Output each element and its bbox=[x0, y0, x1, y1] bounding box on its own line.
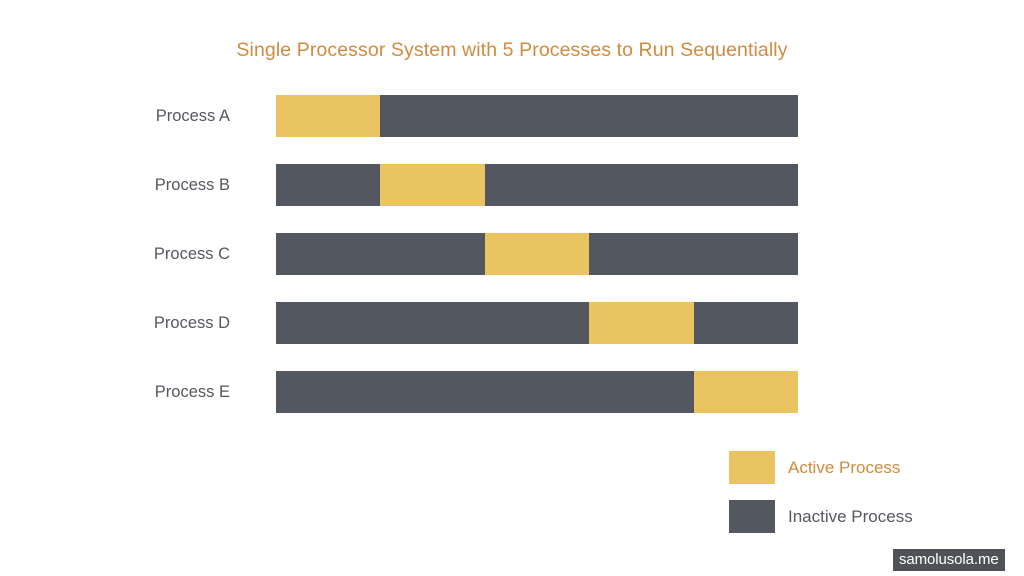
page-title: Single Processor System with 5 Processes… bbox=[0, 39, 1024, 62]
bar-segment-slot-1 bbox=[276, 233, 380, 275]
watermark: samolusola.me bbox=[893, 549, 1005, 571]
process-bar-a bbox=[276, 95, 798, 137]
bar-segment-slot-2 bbox=[380, 371, 484, 413]
bar-segment-slot-5 bbox=[694, 371, 798, 413]
table-row: Process B bbox=[0, 164, 1024, 206]
bar-segment-slot-4 bbox=[589, 371, 693, 413]
process-label-d: Process D bbox=[60, 302, 230, 344]
process-label-b: Process B bbox=[60, 164, 230, 206]
legend-swatch-active-icon bbox=[729, 451, 775, 484]
bar-segment-slot-3 bbox=[485, 302, 589, 344]
bar-segment-slot-5 bbox=[694, 302, 798, 344]
legend-item-active: Active Process bbox=[729, 451, 913, 484]
table-row: Process E bbox=[0, 371, 1024, 413]
legend-swatch-inactive-icon bbox=[729, 500, 775, 533]
bar-segment-slot-2 bbox=[380, 164, 484, 206]
bar-segment-slot-5 bbox=[694, 164, 798, 206]
process-label-c: Process C bbox=[60, 233, 230, 275]
process-bar-e bbox=[276, 371, 798, 413]
legend-label-active: Active Process bbox=[788, 458, 900, 478]
legend-label-inactive: Inactive Process bbox=[788, 507, 913, 527]
bar-segment-slot-1 bbox=[276, 302, 380, 344]
bar-segment-slot-3 bbox=[485, 371, 589, 413]
bar-segment-slot-1 bbox=[276, 164, 380, 206]
bar-segment-slot-4 bbox=[589, 233, 693, 275]
bar-segment-slot-2 bbox=[380, 302, 484, 344]
table-row: Process D bbox=[0, 302, 1024, 344]
table-row: Process A bbox=[0, 95, 1024, 137]
bar-segment-slot-2 bbox=[380, 233, 484, 275]
legend: Active Process Inactive Process bbox=[729, 451, 913, 549]
bar-segment-slot-5 bbox=[694, 233, 798, 275]
bar-segment-slot-1 bbox=[276, 371, 380, 413]
legend-item-inactive: Inactive Process bbox=[729, 500, 913, 533]
bar-segment-slot-4 bbox=[589, 95, 693, 137]
table-row: Process C bbox=[0, 233, 1024, 275]
bar-segment-slot-4 bbox=[589, 164, 693, 206]
process-label-a: Process A bbox=[60, 95, 230, 137]
bar-segment-slot-3 bbox=[485, 95, 589, 137]
process-bar-d bbox=[276, 302, 798, 344]
process-label-e: Process E bbox=[60, 371, 230, 413]
process-timeline-rows: Process A Process B Process C Pr bbox=[0, 95, 1024, 440]
process-bar-c bbox=[276, 233, 798, 275]
bar-segment-slot-3 bbox=[485, 233, 589, 275]
process-bar-b bbox=[276, 164, 798, 206]
bar-segment-slot-3 bbox=[485, 164, 589, 206]
bar-segment-slot-2 bbox=[380, 95, 484, 137]
bar-segment-slot-5 bbox=[694, 95, 798, 137]
bar-segment-slot-1 bbox=[276, 95, 380, 137]
bar-segment-slot-4 bbox=[589, 302, 693, 344]
